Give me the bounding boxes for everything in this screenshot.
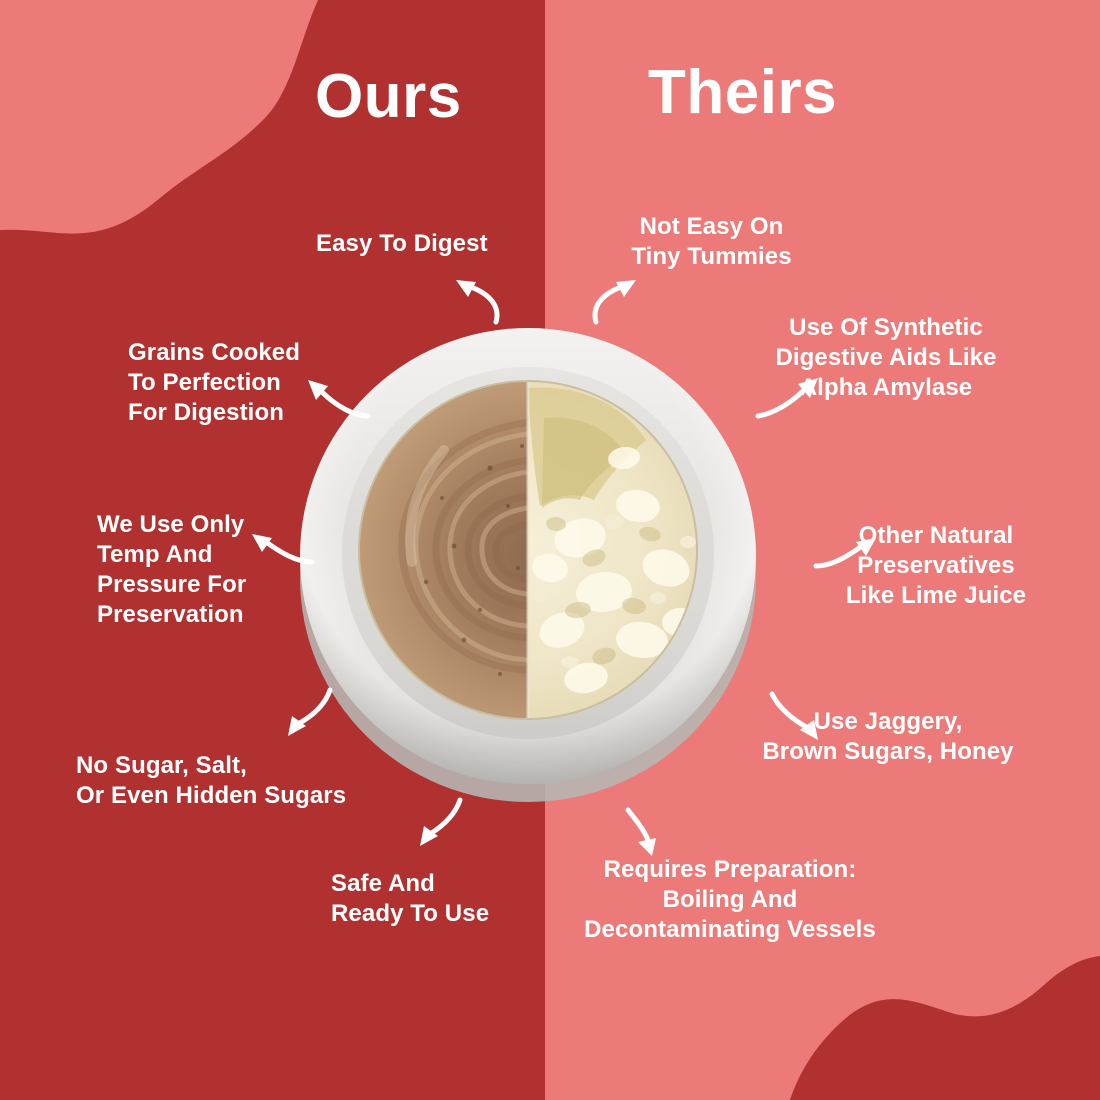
heading-ours: Ours <box>315 66 462 128</box>
label-jaggery-sugars: Use Jaggery, Brown Sugars, Honey <box>752 707 1024 767</box>
infographic-canvas: Ours Theirs <box>0 0 1100 1100</box>
label-no-sugar-salt: No Sugar, Salt, Or Even Hidden Sugars <box>76 751 346 811</box>
split-bowl-image <box>294 310 762 808</box>
label-synthetic-aids: Use Of Synthetic Digestive Aids Like Alp… <box>770 313 1002 403</box>
label-not-easy-tummies: Not Easy On Tiny Tummies <box>624 212 799 272</box>
label-requires-preparation: Requires Preparation: Boiling And Decont… <box>570 855 890 945</box>
label-safe-ready-to-use: Safe And Ready To Use <box>331 869 489 929</box>
label-grains-cooked: Grains Cooked To Perfection For Digestio… <box>128 338 300 428</box>
food-split-line <box>527 370 530 750</box>
label-easy-to-digest: Easy To Digest <box>316 229 488 259</box>
heading-theirs: Theirs <box>648 62 837 124</box>
top-left-wave-blob <box>0 0 318 234</box>
bowl-graphic <box>294 310 762 808</box>
bottom-right-wave-blob <box>790 956 1100 1100</box>
label-temp-and-pressure: We Use Only Temp And Pressure For Preser… <box>97 510 246 630</box>
label-natural-preservatives: Other Natural Preservatives Like Lime Ju… <box>840 521 1032 611</box>
